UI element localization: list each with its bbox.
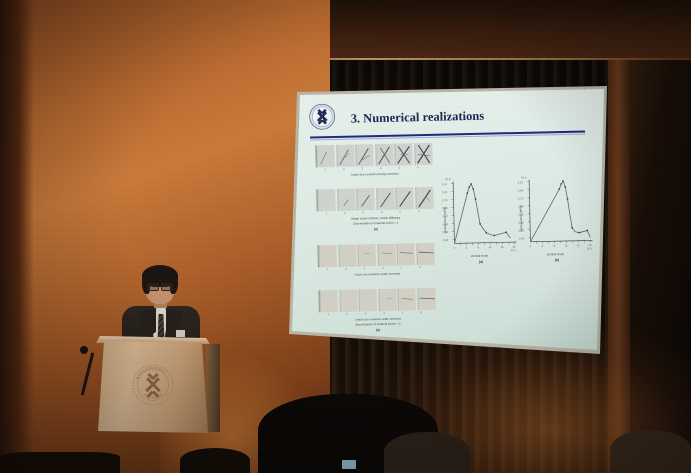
crack-panel	[415, 187, 433, 209]
svg-text:3.00: 3.00	[518, 189, 524, 192]
tick: 4	[372, 167, 389, 170]
tick: 1	[320, 313, 337, 316]
svg-text:12: 12	[565, 244, 569, 247]
svg-text:2.50: 2.50	[518, 197, 524, 200]
crack-panel	[339, 290, 357, 312]
panel-block-4: 1 2 3 4 5 6 Crack-size evolution under s…	[319, 288, 435, 334]
panel-block-1: 1 2 3 4 5 6 Crack-size evolution during …	[316, 143, 432, 177]
panel-row	[319, 288, 435, 313]
wall-left-shadow	[0, 0, 34, 473]
tick: 5	[393, 266, 410, 269]
phone-screen-glow	[342, 460, 356, 469]
crack-panel	[338, 245, 356, 267]
tick: 2	[335, 168, 352, 171]
photo-scene: 45. Geomechanik-Kolloquium	[0, 0, 691, 473]
svg-text:0: 0	[530, 245, 532, 248]
projection-screen[interactable]: 45. Geomechanik-Kolloquium	[287, 86, 607, 358]
crack-panel	[336, 145, 354, 167]
eyeglasses-icon	[147, 283, 173, 289]
svg-text:4: 4	[466, 247, 468, 250]
svg-text:8: 8	[478, 246, 480, 249]
tick: 6	[410, 210, 427, 213]
slide-title: 3. Numerical realizations	[351, 109, 485, 127]
svg-text:16: 16	[501, 246, 505, 249]
crack-panel	[414, 143, 432, 165]
tick: 3	[354, 167, 371, 170]
audience-silhouette	[610, 430, 691, 473]
panel-block-1-caption: Crack-size evolution during extension	[317, 170, 433, 177]
panel-row	[317, 187, 433, 212]
audience-silhouette	[180, 448, 250, 473]
crack-panel	[376, 188, 394, 210]
panel-block-2: 1 2 3 4 5 6 Single crack initiation, sim…	[317, 187, 433, 233]
svg-text:0.00: 0.00	[519, 237, 525, 240]
svg-text:3.00: 3.00	[442, 191, 448, 194]
tick: 6	[411, 266, 428, 269]
svg-text:10-6: 10-6	[445, 178, 451, 181]
speaker-name-badge	[176, 330, 185, 337]
crack-panel	[316, 145, 334, 167]
podium: BERGAKADEMIE FREIBERG	[98, 341, 208, 433]
svg-text:10-3: 10-3	[587, 247, 593, 250]
tick: 4	[374, 267, 391, 270]
svg-text:10-3: 10-3	[511, 249, 517, 252]
audience-silhouette	[0, 452, 120, 473]
tick: 1	[318, 212, 335, 215]
plot-b-xlabel: Vertical strain	[547, 252, 564, 256]
crack-panel	[395, 187, 413, 209]
plot-b-ylabel: Vertical stress (MPa)	[519, 205, 524, 232]
stress-strain-plot-b: 0.000.50 1.001.50 2.002.50 3.003.50 04 8…	[517, 174, 597, 266]
tick: 6	[412, 311, 429, 314]
crack-panel	[317, 189, 335, 211]
crack-panel	[358, 289, 376, 311]
tick: 5	[392, 210, 409, 213]
crack-panel	[396, 243, 414, 265]
crack-panel	[378, 289, 396, 311]
tick: 3	[355, 211, 372, 214]
svg-text:3.50: 3.50	[518, 181, 524, 184]
crack-panel	[416, 243, 434, 265]
tick: 2	[337, 268, 354, 271]
crack-panel	[319, 290, 337, 312]
plot-a-xlabel: Vertical strain	[471, 254, 488, 258]
svg-text:2.50: 2.50	[442, 199, 448, 202]
tick: 5	[391, 166, 408, 169]
tick: 1	[319, 268, 336, 271]
tick: 1	[317, 168, 334, 171]
panel-block-3-caption: Crack-size evolution under stressed	[319, 270, 435, 277]
tick: 5	[394, 311, 411, 314]
tu-bergakademie-freiberg-logo-icon	[308, 103, 336, 131]
crack-panel	[318, 245, 336, 267]
tick: 6	[409, 166, 426, 169]
crack-panel	[355, 144, 373, 166]
svg-text:12: 12	[489, 246, 493, 249]
panel-row	[316, 143, 432, 168]
tick: 3	[357, 312, 374, 315]
screen-surface: 45. Geomechanik-Kolloquium	[287, 86, 607, 358]
plot-a-ylabel: Vertical stress (MPa)	[443, 207, 448, 234]
microphone-icon	[80, 346, 88, 354]
tu-bergakademie-freiberg-seal-icon: BERGAKADEMIE FREIBERG	[131, 363, 175, 407]
svg-text:8: 8	[554, 245, 556, 248]
plot-b-caption: (b)	[555, 258, 559, 262]
tick: 4	[373, 211, 390, 214]
lens-right	[161, 283, 173, 291]
tick: 2	[338, 313, 355, 316]
panel-block-4-label: (b)	[320, 327, 436, 334]
panel-block-3: 1 2 3 4 5 6 Crack-size evolution under s…	[318, 243, 434, 277]
svg-text:0.00: 0.00	[443, 239, 449, 242]
crack-panel	[397, 288, 415, 310]
panel-row	[318, 243, 434, 268]
crack-panel	[394, 143, 412, 165]
crack-panel	[377, 244, 395, 266]
stress-strain-plot-a: 0.000.50 1.001.50 2.002.50 3.003.50 04 8…	[441, 176, 521, 268]
svg-text:10-6: 10-6	[521, 176, 527, 179]
tick: 3	[356, 267, 373, 270]
crack-panel	[356, 188, 374, 210]
svg-text:4: 4	[542, 245, 544, 248]
svg-text:16: 16	[577, 244, 581, 247]
lens-left	[147, 283, 159, 291]
audience-silhouette	[384, 432, 470, 473]
podium-side-panel	[206, 344, 220, 432]
crack-panel	[375, 144, 393, 166]
svg-text:0: 0	[454, 247, 456, 250]
tick: 4	[375, 312, 392, 315]
svg-text:3.50: 3.50	[442, 183, 448, 186]
crack-panel	[417, 288, 435, 310]
tick: 2	[336, 212, 353, 215]
slide: 45. Geomechanik-Kolloquium	[287, 86, 607, 358]
crack-panel	[357, 244, 375, 266]
crack-panel	[337, 189, 355, 211]
plot-a-caption: (a)	[479, 260, 483, 264]
panel-block-2-label: (a)	[318, 226, 434, 233]
